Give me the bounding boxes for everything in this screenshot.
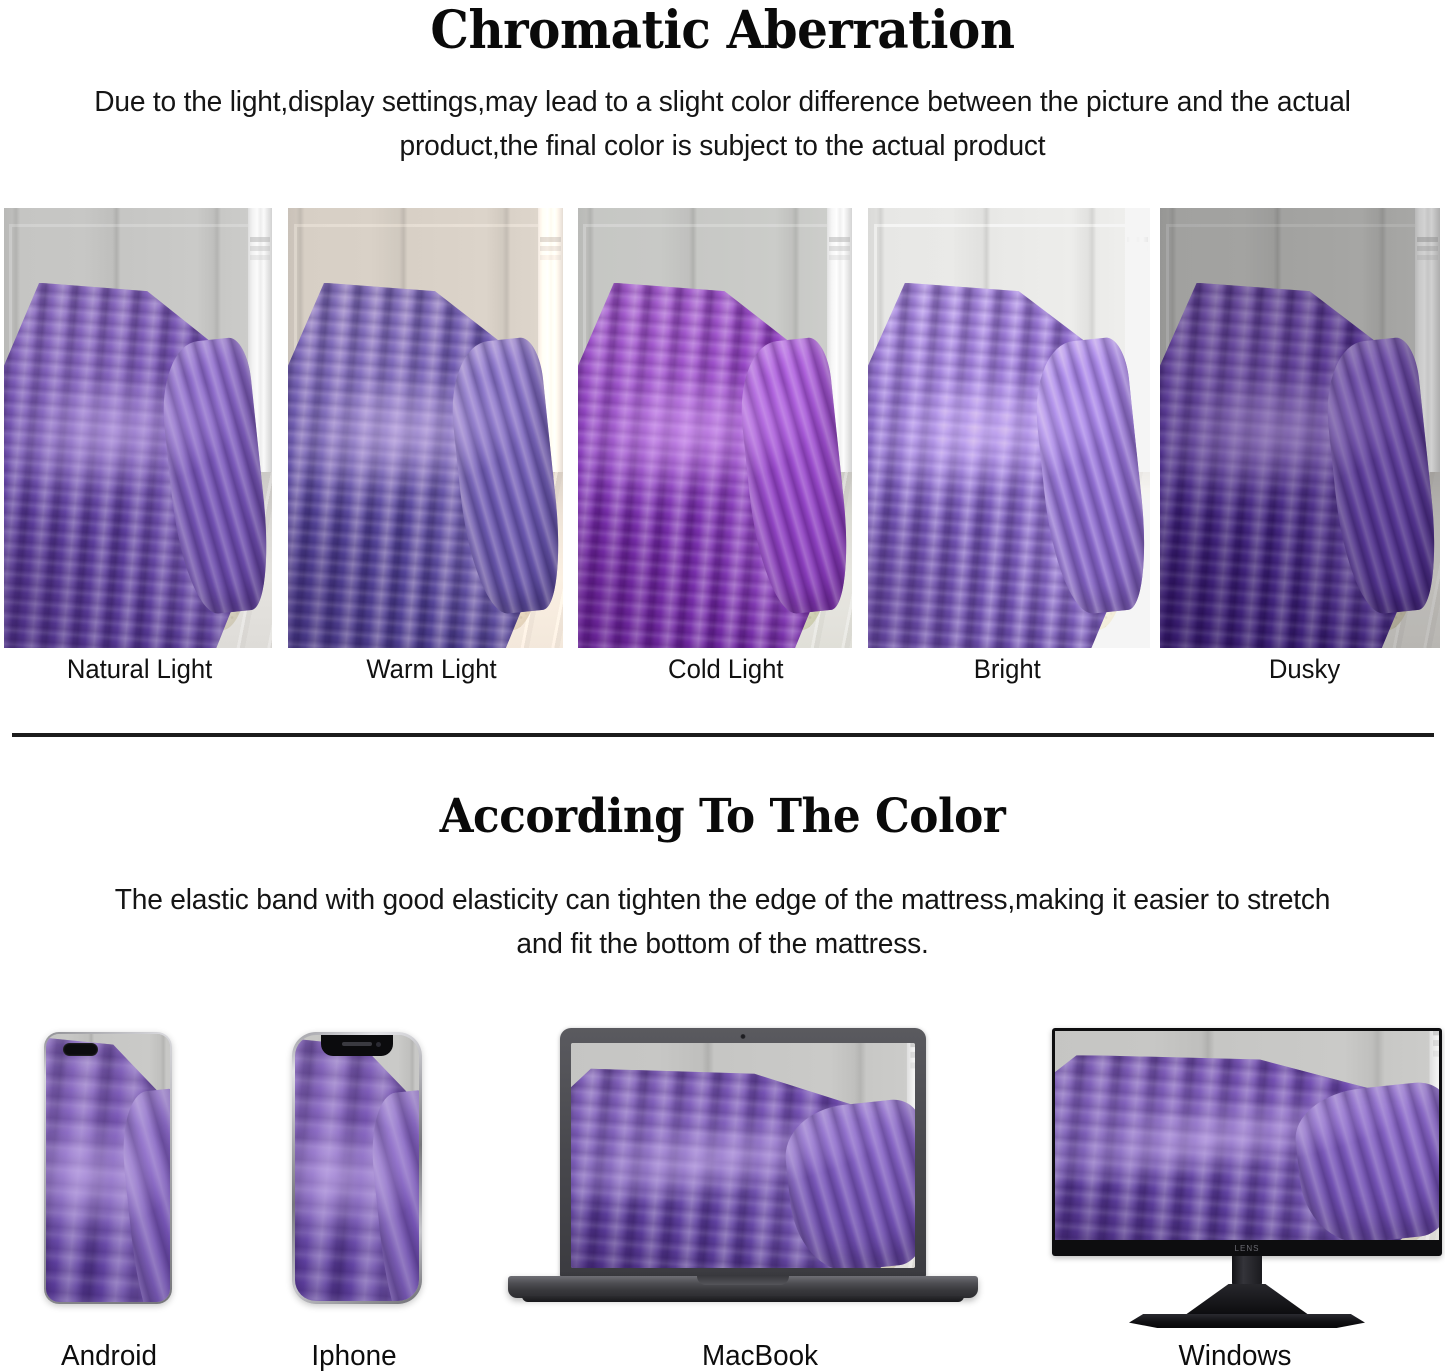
lighting-caption-warm-light: Warm Light: [366, 652, 496, 686]
android-punch-hole-camera-icon: [63, 1043, 98, 1056]
device-caption-windows: Windows: [1144, 1338, 1326, 1372]
product-photo-windows: [1055, 1031, 1439, 1240]
monitor-stand-base: [1129, 1314, 1365, 1328]
lighting-panel-warm-light: [288, 208, 563, 648]
macbook-base: [508, 1276, 978, 1298]
product-photo-dusky: [1160, 208, 1440, 648]
section-one-title: Chromatic Aberration: [51, 2, 1395, 60]
device-mockup-android: [44, 1032, 172, 1304]
section-two-subtitle: The elastic band with good elasticity ca…: [22, 878, 1424, 966]
macbook-webcam-icon: [741, 1034, 746, 1039]
macbook-lid: [560, 1028, 926, 1278]
iphone-screen: [295, 1035, 419, 1301]
lighting-panel-natural-light: [4, 208, 272, 648]
macbook-screen: [571, 1043, 915, 1268]
lighting-caption-bright: Bright: [974, 652, 1041, 686]
lighting-comparison-row: [0, 208, 1445, 648]
device-caption-macbook: MacBook: [664, 1338, 856, 1372]
product-photo-natural-light: [4, 208, 272, 648]
section-two-title: According To The Color: [51, 790, 1395, 844]
android-screen: [46, 1034, 170, 1302]
macbook-foot: [522, 1296, 964, 1302]
product-photo-android: [46, 1034, 170, 1302]
product-photo-warm-light: [288, 208, 563, 648]
lighting-caption-cold-light: Cold Light: [668, 652, 784, 686]
device-mockup-iphone: [292, 1032, 422, 1304]
monitor-screen: [1055, 1031, 1439, 1240]
lighting-panel-cold-light: [578, 208, 852, 648]
device-caption-iphone: Iphone: [294, 1338, 413, 1372]
product-photo-bright: [868, 208, 1150, 648]
product-photo-iphone: [295, 1035, 419, 1301]
monitor-stand-column: [1181, 1284, 1313, 1318]
section-divider: [12, 733, 1434, 737]
section-one-subtitle: Due to the light,display settings,may le…: [22, 80, 1424, 168]
device-mockup-windows-monitor: LENS: [1052, 1028, 1442, 1328]
monitor-brand-mark: LENS: [1235, 1244, 1260, 1253]
lighting-caption-dusky: Dusky: [1269, 652, 1340, 686]
monitor-stand-neck: [1232, 1256, 1262, 1288]
product-infographic: Chromatic Aberration Due to the light,di…: [0, 0, 1445, 1372]
iphone-notch-icon: [321, 1035, 393, 1056]
product-photo-macbook: [571, 1043, 915, 1268]
product-photo-cold-light: [578, 208, 852, 648]
lighting-caption-natural-light: Natural Light: [67, 652, 212, 686]
device-comparison-row: LENS: [0, 1020, 1445, 1320]
device-caption-android: Android: [50, 1338, 167, 1372]
lighting-panel-dusky: [1160, 208, 1440, 648]
lighting-panel-bright: [868, 208, 1150, 648]
macbook-lid-notch: [697, 1276, 789, 1285]
device-mockup-macbook: [508, 1028, 978, 1318]
monitor-bezel: LENS: [1052, 1028, 1442, 1256]
